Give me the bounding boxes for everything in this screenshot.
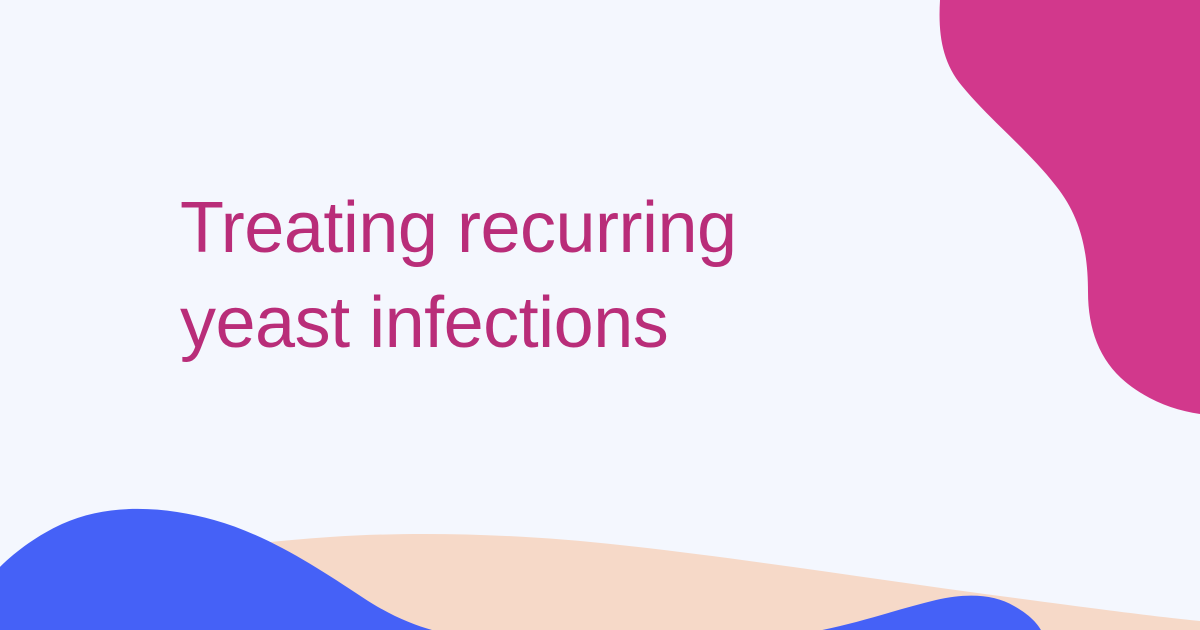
decorative-background — [0, 0, 1200, 630]
cover-card: Treating recurring yeast infections — [0, 0, 1200, 630]
